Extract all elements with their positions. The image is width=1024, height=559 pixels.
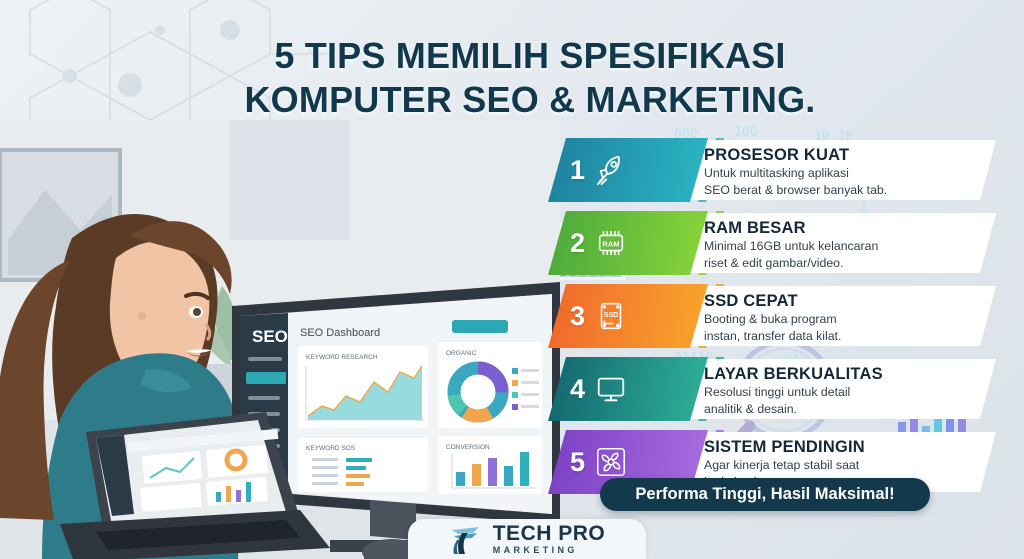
tip-row-3[interactable]: SSD CEPAT Booting & buka program instan,… <box>548 284 978 348</box>
cta-label: Performa Tinggi, Hasil Maksimal! <box>635 485 894 504</box>
tip-desc-4-line1: Resolusi tinggi untuk detail <box>704 385 970 401</box>
svg-text:KEYWORD SOS: KEYWORD SOS <box>306 445 356 452</box>
tip-number-5: 5 <box>570 449 585 476</box>
tip-number-2: 2 <box>570 230 585 257</box>
tip-number-1: 1 <box>570 157 585 184</box>
svg-text:ORGANIC: ORGANIC <box>446 350 477 357</box>
tip-badge-4: 4 <box>548 357 708 421</box>
tip-heading-3: SSD CEPAT <box>704 292 970 311</box>
tip-card-1: PROSESOR KUAT Untuk multitasking aplikas… <box>676 140 996 200</box>
tip-badge-1: 1 <box>548 138 708 202</box>
infographic-canvas: 00010010 10 01010101011 0 1000101010101 … <box>0 0 1024 559</box>
tip-desc-3-line2: instan, transfer data kilat. <box>704 329 970 345</box>
tip-desc-1-line2: SEO berat & browser banyak tab. <box>704 183 970 199</box>
tip-desc-1-line1: Untuk multitasking aplikasi <box>704 166 970 182</box>
tip-row-1[interactable]: PROSESOR KUAT Untuk multitasking aplikas… <box>548 138 978 202</box>
tip-badge-2: 2 RAM <box>548 211 708 275</box>
monitor-icon <box>594 372 628 406</box>
page-title: 5 TIPS MEMILIH SPESIFIKASI KOMPUTER SEO … <box>190 34 870 123</box>
tip-heading-2: RAM BESAR <box>704 219 970 238</box>
logo-tagline: MARKETING <box>493 546 606 555</box>
tip-heading-4: LAYAR BERKUALITAS <box>704 365 970 384</box>
tip-row-2[interactable]: RAM BESAR Minimal 16GB untuk kelancaran … <box>548 211 978 275</box>
svg-text:SEO: SEO <box>252 327 288 346</box>
svg-text:KEYWORD RESEARCH: KEYWORD RESEARCH <box>306 354 378 361</box>
woman-at-desk-illustration: SEO SEO Dashboard KEYWORD RESEARCH ORGAN… <box>0 120 560 559</box>
title-line-2: KOMPUTER SEO & MARKETING. <box>190 78 870 122</box>
tip-desc-2-line2: riset & edit gambar/video. <box>704 256 970 272</box>
tip-desc-5-line1: Agar kinerja tetap stabil saat <box>704 458 970 474</box>
brand-logo[interactable]: TECH PRO MARKETING <box>408 519 646 559</box>
svg-text:SEO Dashboard: SEO Dashboard <box>300 327 380 339</box>
svg-text:CONVERSION: CONVERSION <box>446 444 490 451</box>
tip-card-3: SSD CEPAT Booting & buka program instan,… <box>676 286 996 346</box>
tip-desc-2-line1: Minimal 16GB untuk kelancaran <box>704 239 970 255</box>
rocket-icon <box>594 153 628 187</box>
logo-name: TECH PRO <box>493 523 606 544</box>
tip-desc-4-line2: analitik & desain. <box>704 402 970 418</box>
svg-text:SSD: SSD <box>604 311 619 319</box>
tip-heading-1: PROSESOR KUAT <box>704 146 970 165</box>
tip-badge-3: 3 SSD <box>548 284 708 348</box>
tip-desc-3-line1: Booting & buka program <box>704 312 970 328</box>
tip-row-4[interactable]: LAYAR BERKUALITAS Resolusi tinggi untuk … <box>548 357 978 421</box>
tech-pro-swoosh-icon <box>449 523 483 555</box>
title-line-1: 5 TIPS MEMILIH SPESIFIKASI <box>190 34 870 78</box>
tip-card-4: LAYAR BERKUALITAS Resolusi tinggi untuk … <box>676 359 996 419</box>
svg-text:RAM: RAM <box>602 239 619 248</box>
tip-card-2: RAM BESAR Minimal 16GB untuk kelancaran … <box>676 213 996 273</box>
cta-banner[interactable]: Performa Tinggi, Hasil Maksimal! <box>600 478 930 511</box>
ssd-drive-icon: SSD <box>594 299 628 333</box>
ram-chip-icon: RAM <box>594 226 628 260</box>
logo-text: TECH PRO MARKETING <box>493 523 606 555</box>
tip-heading-5: SISTEM PENDINGIN <box>704 438 970 457</box>
tips-list: PROSESOR KUAT Untuk multitasking aplikas… <box>548 138 978 503</box>
tip-number-3: 3 <box>570 303 585 330</box>
tip-number-4: 4 <box>570 376 585 403</box>
cooling-fan-icon <box>594 445 628 479</box>
